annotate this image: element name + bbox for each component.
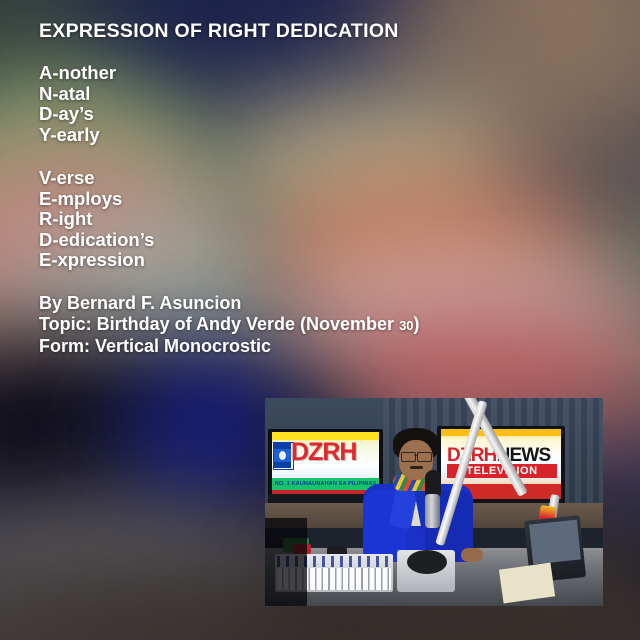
poem-line: D-ay’s <box>39 104 116 125</box>
poem-image-canvas: EXPRESSION OF RIGHT DEDICATION A-nother … <box>0 0 640 640</box>
topic-day: 30 <box>399 318 413 333</box>
form-line: Form: Vertical Monocrostic <box>39 336 420 357</box>
poem-line: V-erse <box>39 168 154 189</box>
poem-title: EXPRESSION OF RIGHT DEDICATION <box>39 20 399 43</box>
photo-vignette <box>265 398 603 606</box>
background-blob <box>130 352 280 512</box>
poem-line: E-mploys <box>39 189 154 210</box>
poem-line: Y-early <box>39 125 116 146</box>
radio-studio-photo: DZRH NO. 1 KAUNAUNAHAN SA PILIPINAS DZRH… <box>265 398 603 606</box>
poem-stanza-two: V-erse E-mploys R-ight D-edication’s E-x… <box>39 168 154 271</box>
poem-line: R-ight <box>39 209 154 230</box>
topic-close-paren: ) <box>414 314 420 334</box>
poem-line: D-edication’s <box>39 230 154 251</box>
poem-line: A-nother <box>39 63 116 84</box>
poem-stanza-one: A-nother N-atal D-ay’s Y-early <box>39 63 116 145</box>
poem-attribution: By Bernard F. Asuncion Topic: Birthday o… <box>39 293 420 357</box>
topic-label: Topic: Birthday of Andy Verde (November <box>39 314 399 334</box>
poem-line: E-xpression <box>39 250 154 271</box>
topic-line: Topic: Birthday of Andy Verde (November … <box>39 314 420 337</box>
author-byline: By Bernard F. Asuncion <box>39 293 420 314</box>
poem-line: N-atal <box>39 84 116 105</box>
